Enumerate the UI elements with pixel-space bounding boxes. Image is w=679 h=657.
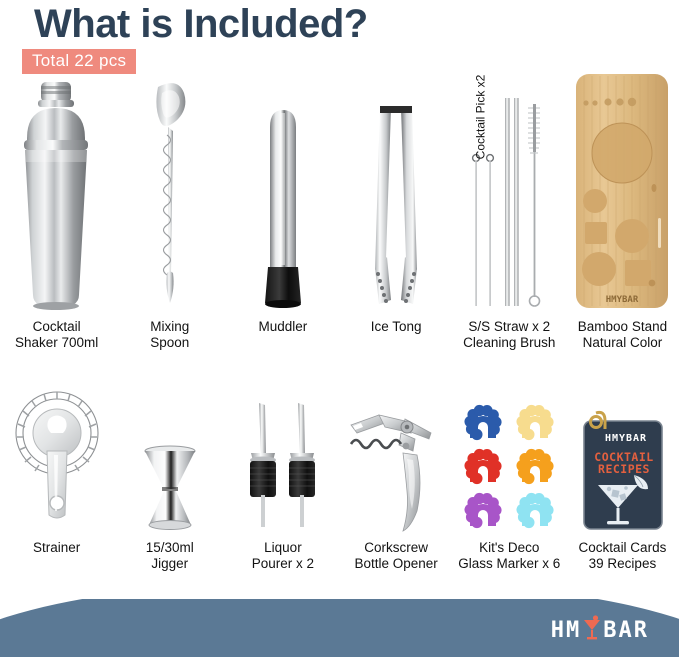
caption: Cocktail Shaker 700ml <box>15 319 98 350</box>
product-row-2: Strainer <box>0 385 679 600</box>
brand-logo: HM BAR <box>551 615 649 646</box>
footer-band: HM BAR <box>0 599 679 657</box>
caption: Ice Tong <box>371 319 422 335</box>
glass-markers-art <box>457 385 561 533</box>
product-item-liquor-pourer: Liquor Pourer x 2 <box>226 385 339 600</box>
strainer-art <box>5 385 109 533</box>
product-item-ice-tong: Ice Tong <box>340 70 453 370</box>
page-title: What is Included? <box>34 2 368 47</box>
caption: Corkscrew Bottle Opener <box>354 540 437 571</box>
product-row-1: Cocktail Shaker 700ml <box>0 70 679 370</box>
jigger-art <box>133 385 207 533</box>
glass-marker-6 <box>517 493 554 528</box>
product-item-mixing-spoon: Mixing Spoon <box>113 70 226 370</box>
glass-marker-4 <box>517 449 554 484</box>
product-item-cocktail-cards: HMYBAR COCKTAIL RECIPES <box>566 385 679 600</box>
logo-text-right: BAR <box>603 618 649 643</box>
product-item-muddler: Muddler <box>226 70 339 370</box>
liquor-pourer-art <box>239 385 327 533</box>
straws-brush-art: Cocktail Pick x2 <box>466 70 552 312</box>
cocktail-cards-art: HMYBAR COCKTAIL RECIPES <box>576 385 668 533</box>
infographic-page: What is Included? Total 22 pcs <box>0 0 679 657</box>
caption: Strainer <box>33 540 80 556</box>
product-item-corkscrew: Corkscrew Bottle Opener <box>340 385 453 600</box>
product-item-bamboo-stand: HMYBAR Bamboo Stand Natural Color <box>566 70 679 370</box>
ice-tong-art <box>361 70 431 312</box>
product-item-glass-markers: Kit's Deco Glass Marker x 6 <box>453 385 566 600</box>
caption: Liquor Pourer x 2 <box>252 540 314 571</box>
glass-marker-5 <box>465 493 502 528</box>
cocktail-pick-label: Cocktail Pick x2 <box>474 75 488 160</box>
caption: Kit's Deco Glass Marker x 6 <box>458 540 560 571</box>
product-item-straws-brush: Cocktail Pick x2 <box>453 70 566 370</box>
product-item-cocktail-shaker: Cocktail Shaker 700ml <box>0 70 113 370</box>
product-item-jigger: 15/30ml Jigger <box>113 385 226 600</box>
card-line2-text: RECIPES <box>598 462 650 476</box>
corkscrew-art <box>345 385 447 533</box>
muddler-art <box>257 70 309 312</box>
cocktail-shaker-art <box>9 70 105 312</box>
caption: Bamboo Stand Natural Color <box>578 319 667 350</box>
logo-text-left: HM <box>551 618 582 643</box>
glass-marker-1 <box>465 405 502 440</box>
caption: Muddler <box>259 319 308 335</box>
card-brand-text: HMYBAR <box>605 433 647 444</box>
bamboo-stand-art: HMYBAR <box>570 70 674 312</box>
caption: 15/30ml Jigger <box>146 540 194 571</box>
glass-marker-2 <box>517 405 554 440</box>
martini-glass-icon <box>582 615 602 646</box>
bamboo-brand-text: HMYBAR <box>606 295 639 305</box>
caption: Cocktail Cards 39 Recipes <box>579 540 667 571</box>
caption: S/S Straw x 2 Cleaning Brush <box>463 319 555 350</box>
caption: Mixing Spoon <box>150 319 189 350</box>
product-item-strainer: Strainer <box>0 385 113 600</box>
glass-marker-3 <box>465 449 502 484</box>
mixing-spoon-art <box>140 70 200 312</box>
